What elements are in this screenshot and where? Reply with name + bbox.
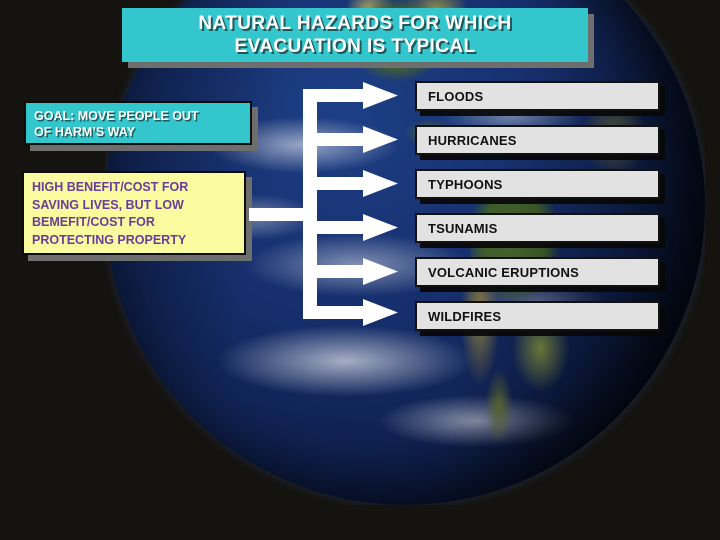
arrow-trunk-vertical xyxy=(303,89,317,319)
hazard-label: TYPHOONS xyxy=(428,177,503,192)
arrow-branch-5 xyxy=(303,258,398,285)
arrow-branch-2 xyxy=(303,126,398,153)
arrow-branch-1 xyxy=(303,82,398,109)
hazard-box-hurricanes[interactable]: HURRICANES xyxy=(415,125,660,155)
arrow-stem-horizontal xyxy=(249,208,311,221)
hazard-label: TSUNAMIS xyxy=(428,221,498,236)
hazard-box-volcanic-eruptions[interactable]: VOLCANIC ERUPTIONS xyxy=(415,257,660,287)
slide-canvas: NATURAL HAZARDS FOR WHICH EVACUATION IS … xyxy=(0,0,720,540)
hazard-box-floods[interactable]: FLOODS xyxy=(415,81,660,111)
hazard-label: VOLCANIC ERUPTIONS xyxy=(428,265,579,280)
hazard-box-typhoons[interactable]: TYPHOONS xyxy=(415,169,660,199)
hazard-label: HURRICANES xyxy=(428,133,517,148)
hazard-label: FLOODS xyxy=(428,89,483,104)
arrow-branch-6 xyxy=(303,299,398,326)
hazard-label: WILDFIRES xyxy=(428,309,501,324)
hazard-box-wildfires[interactable]: WILDFIRES xyxy=(415,301,660,331)
arrow-branch-4 xyxy=(303,214,398,241)
arrow-branch-3 xyxy=(303,170,398,197)
hazard-box-tsunamis[interactable]: TSUNAMIS xyxy=(415,213,660,243)
